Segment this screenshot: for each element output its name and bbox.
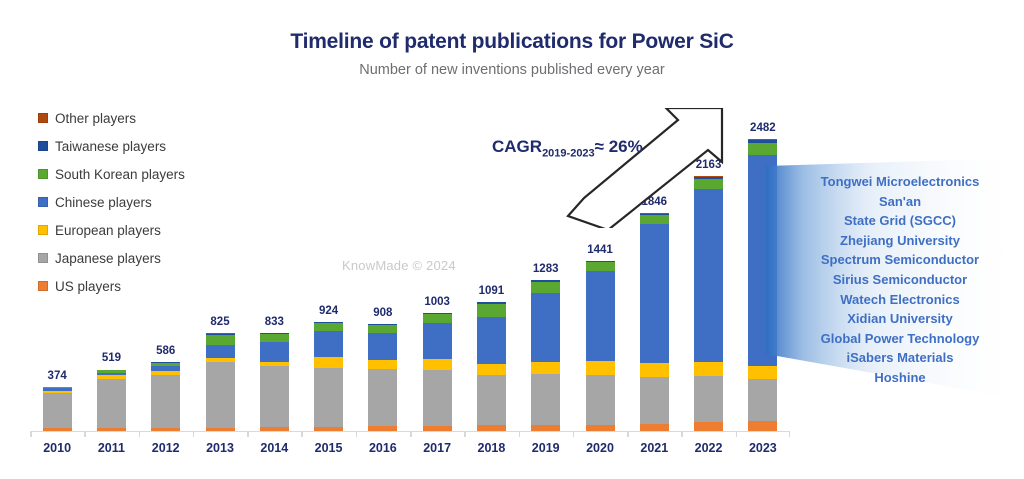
x-axis-tick (84, 432, 86, 437)
x-axis-label-2017: 2017 (423, 441, 451, 455)
x-axis-tick (247, 432, 249, 437)
chart-subtitle: Number of new inventions published every… (0, 62, 1024, 78)
bar-group-2016[interactable]: 9082016 (368, 324, 397, 431)
bar-segment-us-2011[interactable] (97, 428, 126, 430)
bar-segment-south_korean-2016[interactable] (368, 325, 397, 333)
bar-segment-european-2019[interactable] (531, 362, 560, 373)
bar-segment-japanese-2021[interactable] (640, 377, 669, 424)
bar-value-2015: 924 (319, 305, 338, 317)
bar-segment-us-2023[interactable] (748, 421, 777, 430)
bar-group-2018[interactable]: 10912018 (477, 302, 506, 430)
stacked-bar-2020[interactable] (586, 261, 615, 431)
bar-segment-japanese-2014[interactable] (260, 366, 289, 427)
callout-company: Zhejiang University (784, 231, 1016, 251)
x-axis-tick (301, 432, 303, 437)
callout-company: Tongwei Microelectronics (784, 172, 1016, 192)
bar-segment-japanese-2010[interactable] (43, 393, 72, 428)
bar-segment-us-2010[interactable] (43, 428, 72, 430)
bar-value-2012: 586 (156, 345, 175, 357)
callout-company: Xidian University (784, 309, 1016, 329)
x-axis-tick (464, 432, 466, 437)
x-axis-label-2019: 2019 (532, 441, 560, 455)
bar-group-2013[interactable]: 8252013 (206, 333, 235, 430)
cagr-prefix: CAGR (492, 137, 542, 156)
callout-company: iSabers Materials (784, 348, 1016, 368)
bar-value-2023: 2482 (750, 122, 776, 134)
x-axis-tick (193, 432, 195, 437)
bar-segment-us-2012[interactable] (151, 428, 180, 430)
bar-segment-european-2017[interactable] (423, 359, 452, 371)
x-axis-label-2011: 2011 (98, 441, 125, 455)
bar-segment-japanese-2022[interactable] (694, 376, 723, 422)
cagr-annotation: CAGR2019-2023≈ 26% (492, 137, 643, 159)
x-axis-tick (627, 432, 629, 437)
bar-group-2019[interactable]: 12832019 (531, 280, 560, 431)
cagr-period: 2019-2023 (542, 147, 595, 159)
bar-value-2017: 1003 (424, 296, 450, 308)
bar-segment-chinese-2016[interactable] (368, 333, 397, 360)
cagr-arrow-icon (560, 108, 730, 233)
x-axis-label-2018: 2018 (478, 441, 506, 455)
bar-segment-european-2018[interactable] (477, 364, 506, 375)
bar-segment-japanese-2019[interactable] (531, 374, 560, 426)
bar-segment-us-2015[interactable] (314, 427, 343, 431)
bar-value-2016: 908 (373, 307, 392, 319)
x-axis-tick (736, 432, 738, 437)
bar-segment-us-2018[interactable] (477, 425, 506, 430)
x-axis-label-2016: 2016 (369, 441, 397, 455)
bar-segment-chinese-2018[interactable] (477, 317, 506, 364)
x-axis-label-2015: 2015 (315, 441, 343, 455)
bar-segment-chinese-2019[interactable] (531, 293, 560, 362)
bar-group-2014[interactable]: 8332014 (260, 333, 289, 431)
callout-company: Global Power Technology (784, 329, 1016, 349)
cagr-value: ≈ 26% (595, 137, 643, 156)
bar-value-2011: 519 (102, 352, 121, 364)
x-axis-label-2010: 2010 (43, 441, 71, 455)
x-axis-tick (681, 432, 683, 437)
bar-segment-european-2015[interactable] (314, 357, 343, 368)
bar-segment-south_korean-2017[interactable] (423, 314, 452, 323)
bar-segment-chinese-2021[interactable] (640, 224, 669, 363)
bar-segment-chinese-2013[interactable] (206, 345, 235, 358)
bar-segment-us-2020[interactable] (586, 425, 615, 430)
stacked-bar-2019[interactable] (531, 280, 560, 431)
x-axis-label-2022: 2022 (695, 441, 723, 455)
bar-segment-japanese-2017[interactable] (423, 370, 452, 425)
stacked-bar-2012[interactable] (151, 362, 180, 431)
chart-title: Timeline of patent publications for Powe… (0, 30, 1024, 54)
bar-segment-us-2017[interactable] (423, 426, 452, 431)
bar-segment-chinese-2014[interactable] (260, 342, 289, 362)
bar-segment-south_korean-2013[interactable] (206, 335, 235, 345)
x-axis-label-2020: 2020 (586, 441, 614, 455)
callout-company: Sirius Semiconductor (784, 270, 1016, 290)
x-axis-tick (139, 432, 141, 437)
bar-segment-us-2013[interactable] (206, 428, 235, 431)
x-axis-tick (356, 432, 358, 437)
stacked-bar-2021[interactable] (640, 213, 669, 430)
bar-segment-japanese-2020[interactable] (586, 375, 615, 426)
bar-segment-japanese-2012[interactable] (151, 375, 180, 429)
callout-company: San'an (784, 192, 1016, 212)
bar-segment-south_korean-2018[interactable] (477, 304, 506, 317)
x-axis-label-2013: 2013 (206, 441, 234, 455)
bar-group-2020[interactable]: 14412020 (586, 261, 615, 431)
x-axis-tick (573, 432, 575, 437)
bar-segment-south_korean-2014[interactable] (260, 334, 289, 342)
bar-segment-us-2014[interactable] (260, 427, 289, 430)
bar-segment-japanese-2018[interactable] (477, 375, 506, 426)
chart-root: Timeline of patent publications for Powe… (0, 0, 1024, 479)
bar-value-2010: 374 (48, 370, 67, 382)
stacked-bar-2016[interactable] (368, 324, 397, 431)
stacked-bar-2017[interactable] (423, 313, 452, 431)
callout-company: Watech Electronics (784, 290, 1016, 310)
bar-segment-us-2021[interactable] (640, 424, 669, 431)
bar-segment-european-2022[interactable] (694, 362, 723, 376)
stacked-bar-2018[interactable] (477, 302, 506, 430)
stacked-bar-2015[interactable] (314, 322, 343, 431)
bar-value-2013: 825 (210, 316, 229, 328)
x-axis-tick (789, 432, 791, 437)
bar-segment-japanese-2013[interactable] (206, 362, 235, 428)
x-axis-label-2021: 2021 (640, 441, 668, 455)
bar-group-2010[interactable]: 3742010 (43, 387, 72, 431)
bar-group-2021[interactable]: 18462021 (640, 213, 669, 430)
stacked-bar-2011[interactable] (97, 369, 126, 430)
bar-group-2012[interactable]: 5862012 (151, 362, 180, 431)
x-axis-tick (519, 432, 521, 437)
callout-company: Spectrum Semiconductor (784, 250, 1016, 270)
bar-segment-us-2022[interactable] (694, 422, 723, 430)
bar-value-2014: 833 (265, 316, 284, 328)
bar-group-2017[interactable]: 10032017 (423, 313, 452, 431)
bar-segment-chinese-2020[interactable] (586, 271, 615, 360)
x-axis-label-2014: 2014 (260, 441, 288, 455)
bar-segment-south_korean-2015[interactable] (314, 323, 343, 331)
stacked-bar-2013[interactable] (206, 333, 235, 430)
bar-segment-us-2019[interactable] (531, 425, 560, 430)
bar-segment-us-2016[interactable] (368, 426, 397, 431)
bar-segment-european-2016[interactable] (368, 360, 397, 369)
bar-segment-chinese-2015[interactable] (314, 331, 343, 357)
bar-segment-south_korean-2020[interactable] (586, 262, 615, 271)
callout-company-list: Tongwei MicroelectronicsSan'anState Grid… (784, 172, 1016, 388)
callout-company: Hoshine (784, 368, 1016, 388)
bar-segment-european-2021[interactable] (640, 363, 669, 377)
bar-value-2019: 1283 (533, 263, 559, 275)
bar-segment-south_korean-2023[interactable] (748, 143, 777, 156)
bar-segment-chinese-2017[interactable] (423, 323, 452, 358)
stacked-bar-2010[interactable] (43, 387, 72, 431)
bar-group-2011[interactable]: 5192011 (97, 369, 126, 430)
x-axis-tick (30, 432, 32, 437)
bar-segment-south_korean-2019[interactable] (531, 282, 560, 293)
bar-value-2020: 1441 (587, 244, 613, 256)
top-players-callout: Tongwei MicroelectronicsSan'anState Grid… (766, 158, 1024, 416)
bar-segment-japanese-2011[interactable] (97, 379, 126, 428)
x-axis-tick (410, 432, 412, 437)
bar-value-2018: 1091 (479, 285, 505, 297)
bar-group-2015[interactable]: 9242015 (314, 322, 343, 431)
x-axis-label-2023: 2023 (749, 441, 777, 455)
x-axis-label-2012: 2012 (152, 441, 180, 455)
bar-segment-european-2020[interactable] (586, 361, 615, 375)
stacked-bar-2014[interactable] (260, 333, 289, 431)
bar-segment-japanese-2015[interactable] (314, 368, 343, 427)
callout-company: State Grid (SGCC) (784, 211, 1016, 231)
bar-segment-japanese-2016[interactable] (368, 369, 397, 425)
